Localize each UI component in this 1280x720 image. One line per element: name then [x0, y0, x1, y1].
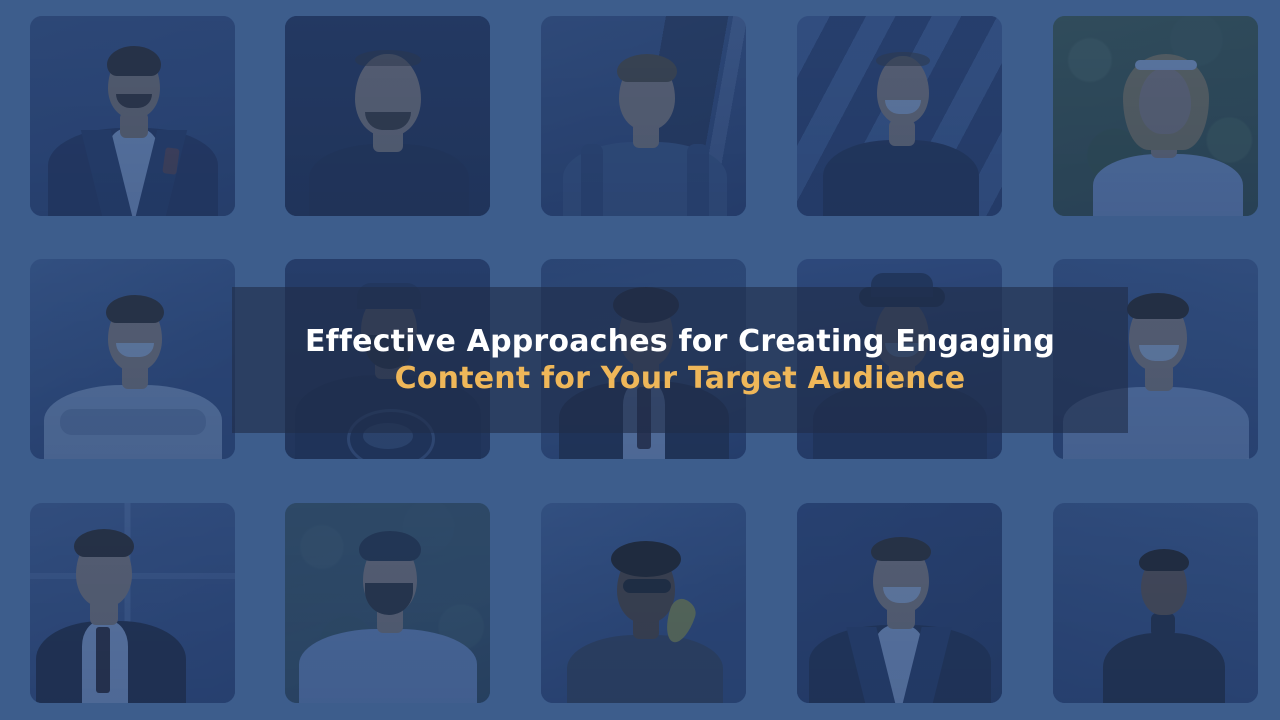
slide-canvas: Effective Approaches for Creating Engagi… — [0, 0, 1280, 720]
title-banner: Effective Approaches for Creating Engagi… — [232, 287, 1128, 433]
photo-tile — [541, 16, 746, 216]
photo-tile — [30, 503, 235, 703]
photo-tile — [285, 16, 490, 216]
photo-tile — [285, 503, 490, 703]
photo-tile — [1053, 16, 1258, 216]
photo-tile — [541, 503, 746, 703]
title-line-secondary: Content for Your Target Audience — [395, 361, 966, 396]
title-line-primary: Effective Approaches for Creating Engagi… — [305, 324, 1055, 359]
photo-tile — [30, 259, 235, 459]
photo-tile — [797, 16, 1002, 216]
photo-tile — [797, 503, 1002, 703]
photo-tile — [1053, 503, 1258, 703]
photo-tile — [30, 16, 235, 216]
